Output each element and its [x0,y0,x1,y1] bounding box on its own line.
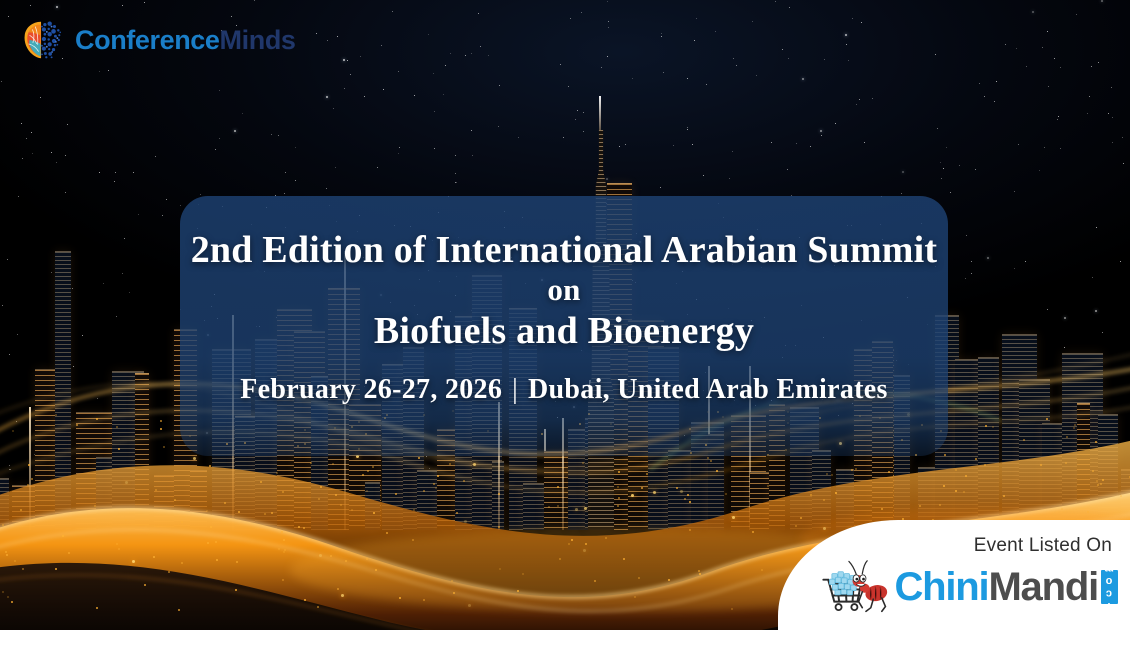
mega-tower-spire [599,96,601,130]
event-title-line2: Biofuels and Bioenergy [191,310,938,353]
event-title: 2nd Edition of International Arabian Sum… [191,230,938,352]
brand-name-part2: Minds [220,25,296,55]
partner-tld-badge: .com [1101,570,1118,604]
conference-banner: ConferenceMinds 2nd Edition of Internati… [0,0,1130,650]
brand-wordmark: ConferenceMinds [75,27,296,54]
event-title-connector: on [191,271,938,310]
chinimandi-logo[interactable]: ChiniMandi .com [818,559,1118,615]
footer-strip [0,630,1130,650]
event-location: Dubai, United Arab Emirates [528,374,888,405]
brand-name-part1: Conference [75,25,220,55]
partner-name-part2: Mandi [988,567,1098,607]
event-title-line1: 2nd Edition of International Arabian Sum… [191,229,938,271]
brand-logo[interactable]: ConferenceMinds [18,16,296,64]
event-date: February 26-27, 2026 [240,374,502,405]
brain-split-logo-icon [18,16,66,64]
chinimandi-wordmark: ChiniMandi .com [894,567,1118,607]
event-listed-on-badge: Event Listed On [778,520,1130,630]
partner-tld-text: .com [1104,562,1115,612]
event-date-location: February 26-27, 2026|Dubai, United Arab … [240,374,887,406]
ant-with-sugar-cart-icon [818,559,892,615]
date-location-separator: | [502,374,528,405]
hero-panel: 2nd Edition of International Arabian Sum… [180,196,948,456]
listed-on-label: Event Listed On [974,535,1112,557]
partner-name-part1: Chini [894,567,988,607]
